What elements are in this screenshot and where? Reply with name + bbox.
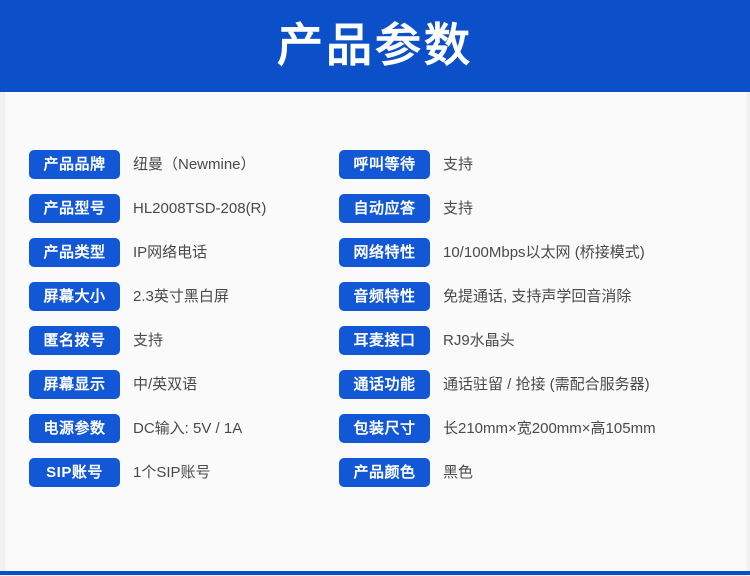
spec-row: 耳麦接口 RJ9水晶头 (339, 326, 739, 355)
spec-label-chip: 屏幕显示 (29, 370, 120, 399)
page-title: 产品参数 (277, 22, 473, 70)
spec-value: 通话驻留 / 抢接 (需配合服务器) (443, 377, 650, 392)
spec-row: 电源参数 DC输入: 5V / 1A (29, 414, 329, 443)
spec-label-chip: 产品颜色 (339, 458, 430, 487)
spec-value: 黑色 (443, 465, 473, 480)
spec-row: 产品类型 IP网络电话 (29, 238, 329, 267)
spec-value: 中/英双语 (133, 377, 197, 392)
spec-row: 屏幕显示 中/英双语 (29, 370, 329, 399)
spec-value: DC输入: 5V / 1A (133, 421, 242, 436)
spec-value: 1个SIP账号 (133, 465, 211, 480)
spec-value: HL2008TSD-208(R) (133, 201, 266, 216)
spec-value: IP网络电话 (133, 245, 207, 260)
spec-value: 支持 (133, 333, 163, 348)
spec-value: 10/100Mbps以太网 (桥接模式) (443, 245, 645, 260)
spec-row: 产品颜色 黑色 (339, 458, 739, 487)
spec-value: 支持 (443, 201, 473, 216)
spec-value: 纽曼（Newmine） (133, 157, 256, 172)
spec-label-chip: 产品型号 (29, 194, 120, 223)
spec-label-chip: 耳麦接口 (339, 326, 430, 355)
spec-row: 匿名拨号 支持 (29, 326, 329, 355)
spec-value: 长210mm×宽200mm×高105mm (443, 421, 656, 436)
spec-value: 2.3英寸黑白屏 (133, 289, 229, 304)
spec-label-chip: 音频特性 (339, 282, 430, 311)
spec-column-right: 呼叫等待 支持 自动应答 支持 网络特性 10/100Mbps以太网 (桥接模式… (339, 150, 739, 502)
spec-label-chip: 产品类型 (29, 238, 120, 267)
spec-label-chip: 呼叫等待 (339, 150, 430, 179)
spec-label-chip: 产品品牌 (29, 150, 120, 179)
spec-label-chip: 网络特性 (339, 238, 430, 267)
spec-label-chip: 电源参数 (29, 414, 120, 443)
spec-value: RJ9水晶头 (443, 333, 515, 348)
spec-row: 产品品牌 纽曼（Newmine） (29, 150, 329, 179)
spec-row: 网络特性 10/100Mbps以太网 (桥接模式) (339, 238, 739, 267)
spec-column-left: 产品品牌 纽曼（Newmine） 产品型号 HL2008TSD-208(R) 产… (29, 150, 329, 502)
spec-label-chip: 自动应答 (339, 194, 430, 223)
spec-value: 免提通话, 支持声学回音消除 (443, 289, 631, 304)
bottom-accent-strip (0, 571, 750, 575)
product-spec-page: 产品参数 产品品牌 纽曼（Newmine） 产品型号 HL2008TSD-208… (0, 0, 750, 576)
spec-label-chip: SIP账号 (29, 458, 120, 487)
spec-row: 音频特性 免提通话, 支持声学回音消除 (339, 282, 739, 311)
spec-value: 支持 (443, 157, 473, 172)
spec-label-chip: 包装尺寸 (339, 414, 430, 443)
spec-content-card: 产品品牌 纽曼（Newmine） 产品型号 HL2008TSD-208(R) 产… (4, 92, 748, 571)
spec-label-chip: 通话功能 (339, 370, 430, 399)
page-header-banner: 产品参数 (0, 0, 750, 92)
spec-row: 屏幕大小 2.3英寸黑白屏 (29, 282, 329, 311)
spec-label-chip: 屏幕大小 (29, 282, 120, 311)
spec-grid: 产品品牌 纽曼（Newmine） 产品型号 HL2008TSD-208(R) 产… (5, 92, 747, 571)
spec-row: 通话功能 通话驻留 / 抢接 (需配合服务器) (339, 370, 739, 399)
spec-row: 自动应答 支持 (339, 194, 739, 223)
spec-label-chip: 匿名拨号 (29, 326, 120, 355)
spec-row: 产品型号 HL2008TSD-208(R) (29, 194, 329, 223)
spec-row: 包装尺寸 长210mm×宽200mm×高105mm (339, 414, 739, 443)
spec-row: 呼叫等待 支持 (339, 150, 739, 179)
spec-row: SIP账号 1个SIP账号 (29, 458, 329, 487)
